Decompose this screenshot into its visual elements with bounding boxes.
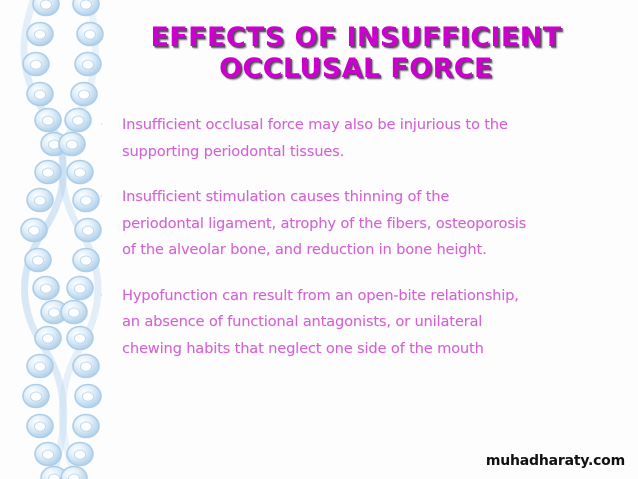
- bullet-line: Insufficient stimulation causes thinning…: [122, 184, 620, 211]
- bullet-list: · Insufficient occlusal force may also b…: [100, 112, 620, 362]
- bullet-line: chewing habits that neglect one side of …: [122, 336, 620, 363]
- slide-canvas: EFFECTS OF INSUFFICIENT OCCLUSAL FORCE ·…: [0, 0, 638, 479]
- bullet-marker-icon: ·: [100, 283, 122, 301]
- bullet-line: Insufficient occlusal force may also be …: [122, 112, 620, 139]
- bullet-line: an absence of functional antagonists, or…: [122, 309, 620, 336]
- title-line-2: OCCLUSAL FORCE: [96, 53, 616, 84]
- bullet-line: supporting periodontal tissues.: [122, 139, 620, 166]
- bullet-line: of the alveolar bone, and reduction in b…: [122, 237, 620, 264]
- bullet-marker-icon: ·: [100, 112, 122, 130]
- title-line-1: EFFECTS OF INSUFFICIENT: [96, 22, 616, 53]
- list-item: · Hypofunction can result from an open-b…: [100, 283, 620, 363]
- slide-title: EFFECTS OF INSUFFICIENT OCCLUSAL FORCE: [96, 22, 616, 84]
- bullet-marker-icon: ·: [100, 184, 122, 202]
- bullet-line: Hypofunction can result from an open-bit…: [122, 283, 620, 310]
- bullet-text-3: Hypofunction can result from an open-bit…: [122, 283, 620, 363]
- bullet-text-1: Insufficient occlusal force may also be …: [122, 112, 620, 165]
- list-item: · Insufficient stimulation causes thinni…: [100, 184, 620, 264]
- list-item: · Insufficient occlusal force may also b…: [100, 112, 620, 165]
- bullet-text-2: Insufficient stimulation causes thinning…: [122, 184, 620, 264]
- bullet-line: periodontal ligament, atrophy of the fib…: [122, 211, 620, 238]
- footer-watermark: muhadharaty.com: [486, 453, 625, 469]
